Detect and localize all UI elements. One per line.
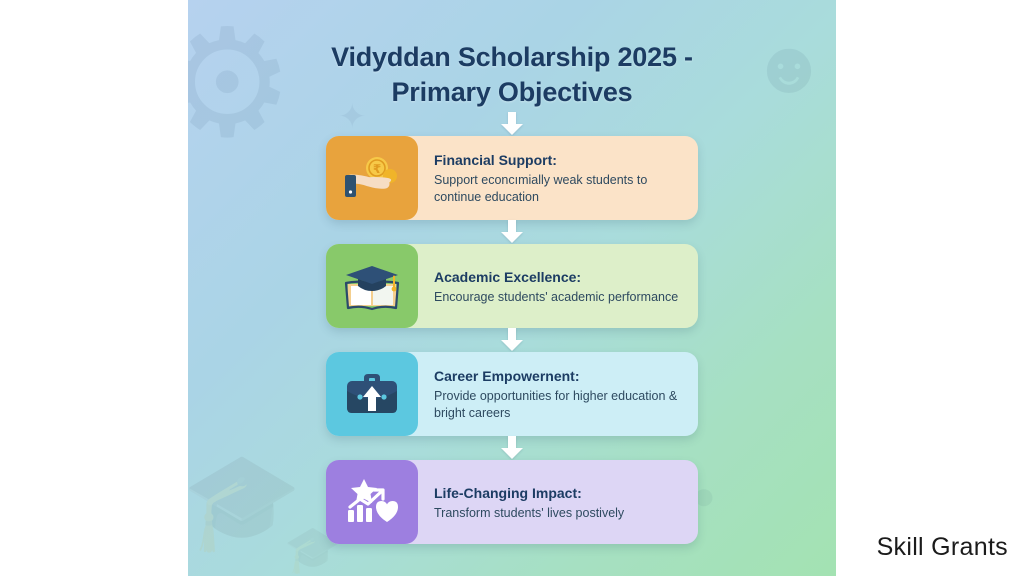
briefcase-up-arrow-icon [326, 352, 418, 436]
page-title-line-1: Vidyddan Scholarship 2025 - [331, 42, 693, 72]
card-description: Transform students' lives postively [434, 505, 684, 522]
infographic-panel: ⚙ ☻ 🎓 🎓 ✦ ● Vidyddan Scholarship 2025 - … [188, 0, 836, 576]
page-title: Vidyddan Scholarship 2025 - Primary Obje… [188, 40, 836, 109]
brand-watermark: Skill Grants [877, 533, 1008, 562]
card-heading: Career Empowernent: [434, 368, 684, 385]
card-text-block: Career Empowernent: Provide opportunitie… [418, 352, 698, 436]
card-description: Provide opportunities for higher educati… [434, 388, 684, 421]
down-arrow-icon [499, 112, 525, 136]
card-heading: Financial Support: [434, 152, 684, 169]
graduation-cap-book-icon [326, 244, 418, 328]
svg-text:₹: ₹ [373, 162, 381, 176]
star-growth-chart-heart-icon [326, 460, 418, 544]
down-arrow-icon [499, 328, 525, 352]
objective-card-financial-support[interactable]: ₹ Financial Support: Support econcımiall… [326, 136, 698, 220]
objective-card-career-empowerment[interactable]: Career Empowernent: Provide opportunitie… [326, 352, 698, 436]
down-arrow-icon [499, 436, 525, 460]
card-text-block: Life-Changing Impact: Transform students… [418, 460, 698, 544]
card-heading: Academic Excellence: [434, 269, 684, 286]
objective-card-life-changing-impact[interactable]: Life-Changing Impact: Transform students… [326, 460, 698, 544]
card-description: Support econcımially weak students to co… [434, 172, 684, 205]
objectives-flow: ₹ Financial Support: Support econcımiall… [188, 112, 836, 544]
page-title-line-2: Primary Objectives [188, 75, 836, 110]
card-text-block: Academic Excellence: Encourage students'… [418, 244, 698, 328]
card-description: Encourage students' academic performance [434, 289, 684, 306]
down-arrow-icon [499, 220, 525, 244]
card-heading: Life-Changing Impact: [434, 485, 684, 502]
objective-card-academic-excellence[interactable]: Academic Excellence: Encourage students'… [326, 244, 698, 328]
hand-holding-rupee-coin-icon: ₹ [326, 136, 418, 220]
card-text-block: Financial Support: Support econcımially … [418, 136, 698, 220]
